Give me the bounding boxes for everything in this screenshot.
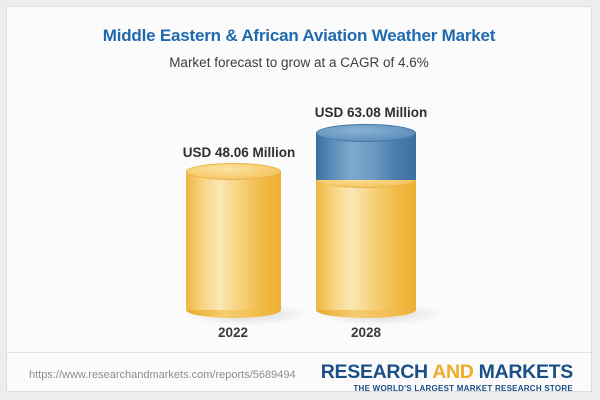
report-url[interactable]: https://www.researchandmarkets.com/repor… [29, 369, 296, 381]
logo-word-and: AND [432, 361, 473, 383]
logo-word-markets: MARKETS [479, 361, 573, 383]
value-label-2028: USD 63.08 Million [261, 105, 481, 120]
research-and-markets-logo[interactable]: RESEARCH AND MARKETS THE WORLD'S LARGEST… [321, 362, 573, 392]
chart-card: Middle Eastern & African Aviation Weathe… [6, 6, 592, 392]
chart-plot-area: USD 48.06 Million 2022 USD 63.08 Million… [7, 7, 592, 347]
category-label-2028: 2028 [286, 325, 446, 340]
bar-2028-yellow-segment [316, 179, 416, 310]
bar-2022[interactable] [186, 163, 281, 317]
logo-wordmark: RESEARCH AND MARKETS [321, 362, 573, 382]
bar-2022-top-ellipse [186, 163, 281, 180]
footer-divider [7, 352, 591, 353]
bar-2022-body [186, 171, 281, 310]
bar-2028[interactable] [316, 124, 416, 317]
logo-tagline: THE WORLD'S LARGEST MARKET RESEARCH STOR… [321, 384, 573, 392]
logo-word-research: RESEARCH [321, 361, 428, 383]
bar-2028-top-ellipse [316, 124, 416, 142]
